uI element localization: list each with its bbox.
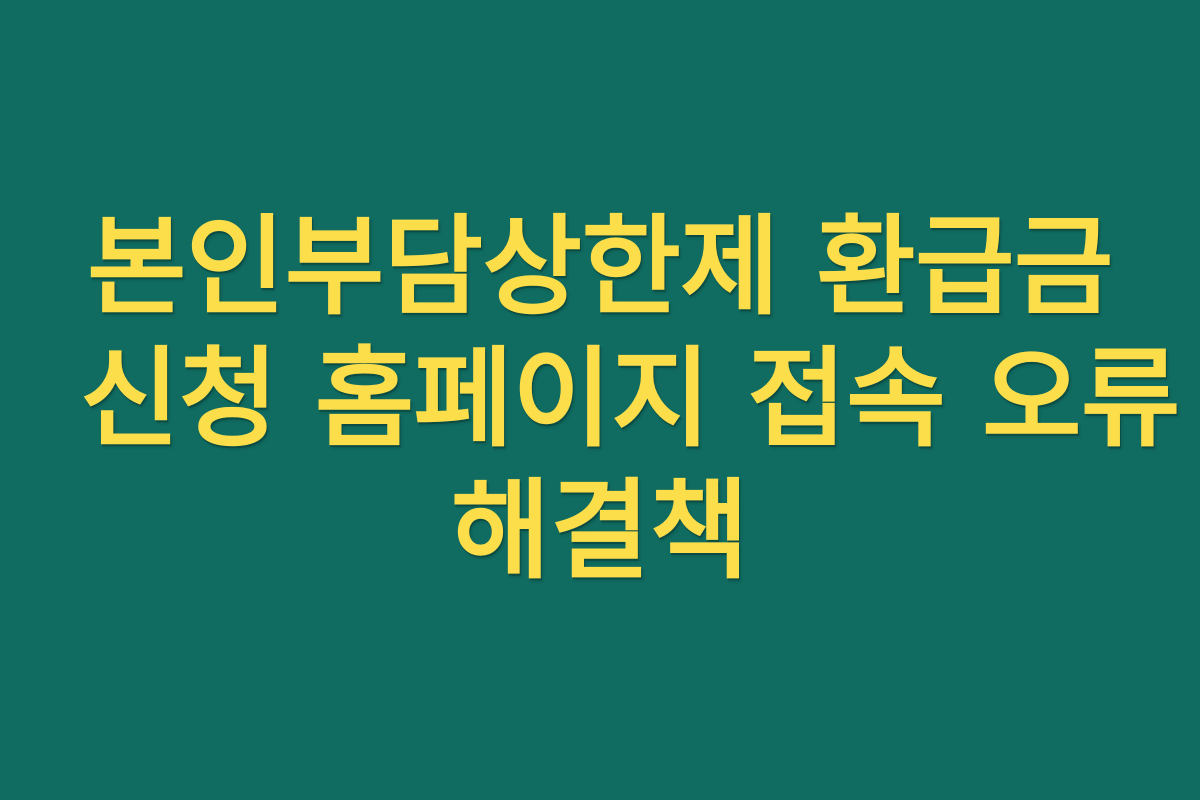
thumbnail-canvas: 본인부담상한제 환급금 신청 홈페이지 접속 오류 해결책 [0,0,1200,800]
headline-line-1: 본인부담상한제 환급금 [80,202,1120,334]
headline-block: 본인부담상한제 환급금 신청 홈페이지 접속 오류 해결책 [60,202,1140,598]
headline-line-3: 해결책 [80,466,1120,598]
headline-line-2: 신청 홈페이지 접속 오류 [80,334,1120,466]
